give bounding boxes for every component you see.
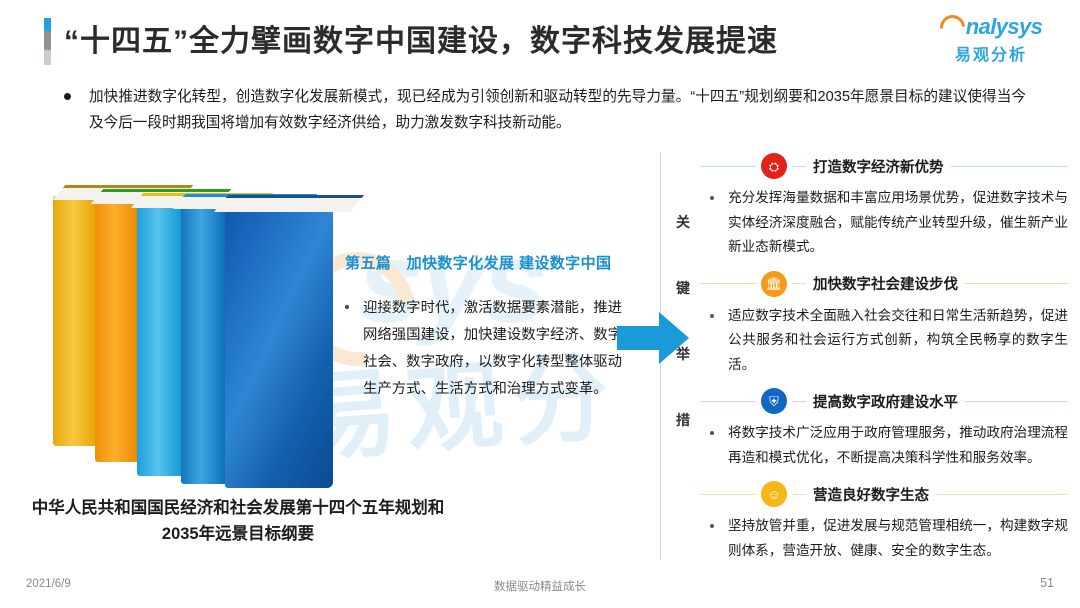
center-title: 第五篇 加快数字化发展 建设数字中国: [345, 252, 635, 273]
book-pages-5: [214, 195, 364, 212]
side-label-char-2: 举: [672, 344, 694, 364]
divider-line-left: [700, 494, 756, 495]
measure-bullet-dot-icon: [710, 196, 714, 200]
slide: sys 易观分 “十四五”全力擘画数字中国建设，数字科技发展提速 nalysys…: [0, 0, 1080, 608]
divider-line-left: [700, 166, 756, 167]
side-label-char-0: 关: [672, 212, 694, 232]
measure-text: 适应数字技术全面融入社会交往和日常生活新趋势，促进公共服务和社会运行方式创新，构…: [728, 304, 1068, 378]
side-label-char-1: 键: [672, 278, 694, 298]
bank-icon: 🏛: [761, 271, 787, 297]
bullet-dot-icon: [64, 93, 71, 100]
measure-title: 加快数字社会建设步伐: [813, 273, 958, 294]
center-block: 第五篇 加快数字化发展 建设数字中国 迎接数字时代，激活数据要素潜能，推进网络强…: [345, 252, 635, 403]
divider-line-right: [951, 166, 1069, 167]
measure-title: 营造良好数字生态: [813, 484, 929, 505]
center-text: 迎接数字时代，激活数据要素潜能，推进网络强国建设，加快建设数字经济、数字社会、数…: [363, 295, 635, 403]
divider-line-right: [965, 283, 1068, 284]
book-stack-image: [45, 168, 335, 488]
measure-text: 充分发挥海量数据和丰富应用场景优势，促进数字技术与实体经济深度融合，赋能传统产业…: [728, 186, 1068, 260]
side-label: 关 键 举 措: [672, 212, 694, 476]
measure-section: ☺ 营造良好数字生态 坚持放管并重，促进发展与规范管理相统一，构建数字规则体系，…: [700, 478, 1068, 563]
measure-title: 打造数字经济新优势: [813, 156, 944, 177]
side-label-char-3: 措: [672, 410, 694, 430]
intro-bullet: 加快推进数字化转型，创造数字化发展新模式，现已经成为引领创新和驱动转型的先导力量…: [64, 84, 1026, 136]
measure-bullet-dot-icon: [710, 314, 714, 318]
center-bullet-dot-icon: [345, 305, 349, 309]
book-5: [225, 198, 333, 488]
title-accent-bar: [44, 18, 51, 65]
book-caption: 中华人民共和国国民经济和社会发展第十四个五年规划和2035年远景目标纲要: [28, 495, 448, 547]
person-icon: ☺: [761, 481, 787, 507]
logo-chinese: 易观分析: [928, 41, 1054, 65]
measure-title: 提高数字政府建设水平: [813, 391, 958, 412]
divider-line-left: [700, 401, 756, 402]
measure-text: 将数字技术广泛应用于政府管理服务，推动政府治理流程再造和模式优化，不断提高决策科…: [728, 421, 1068, 470]
divider-line-left: [700, 283, 756, 284]
footer-slogan: 数据驱动精益成长: [0, 578, 1080, 594]
intro-text: 加快推进数字化转型，创造数字化发展新模式，现已经成为引领创新和驱动转型的先导力量…: [89, 84, 1026, 136]
divider-line-mid: [792, 494, 806, 495]
divider-line-mid: [792, 401, 806, 402]
logo-a-icon: [935, 9, 970, 44]
shield-icon: ⛨: [761, 388, 787, 414]
divider-line-mid: [792, 166, 806, 167]
measure-bullet-dot-icon: [710, 524, 714, 528]
divider-line-right: [936, 494, 1068, 495]
factory-icon: ⛭: [761, 153, 787, 179]
divider-line-right: [965, 401, 1068, 402]
page-title: “十四五”全力擘画数字中国建设，数字科技发展提速: [64, 16, 778, 60]
measure-section: ⛨ 提高数字政府建设水平 将数字技术广泛应用于政府管理服务，推动政府治理流程再造…: [700, 385, 1068, 470]
measures-list: ⛭ 打造数字经济新优势 充分发挥海量数据和丰富应用场景优势，促进数字技术与实体经…: [700, 150, 1068, 571]
measure-section: ⛭ 打造数字经济新优势 充分发挥海量数据和丰富应用场景优势，促进数字技术与实体经…: [700, 150, 1068, 260]
footer-page-number: 51: [1040, 576, 1054, 590]
measure-section: 🏛 加快数字社会建设步伐 适应数字技术全面融入社会交往和日常生活新趋势，促进公共…: [700, 268, 1068, 378]
logo-wordmark: nalysys: [966, 14, 1043, 40]
measure-bullet-dot-icon: [710, 431, 714, 435]
divider-line-mid: [792, 283, 806, 284]
measure-text: 坚持放管并重，促进发展与规范管理相统一，构建数字规则体系，营造开放、健康、安全的…: [728, 514, 1068, 563]
brand-logo: nalysys 易观分析: [928, 14, 1054, 65]
